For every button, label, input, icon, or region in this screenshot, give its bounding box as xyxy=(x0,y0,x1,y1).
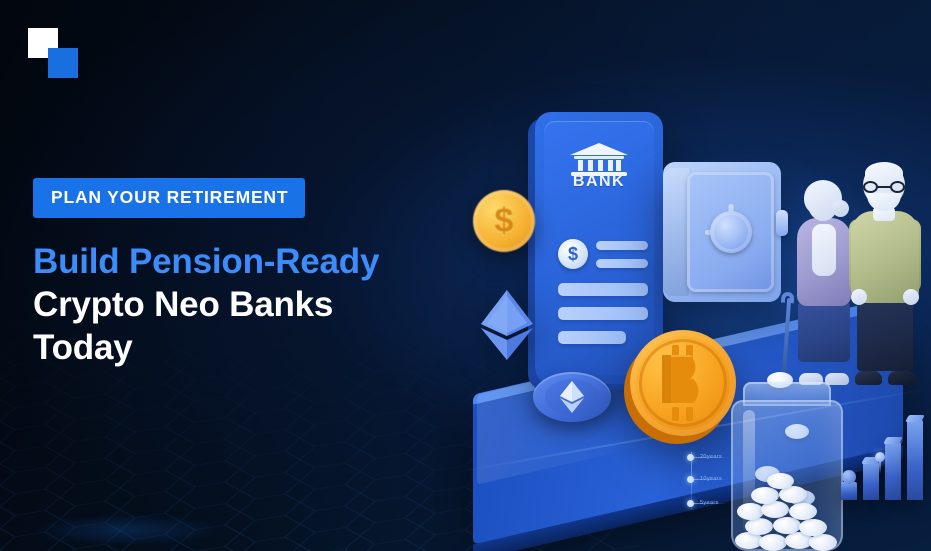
glasses-lens-left xyxy=(863,181,878,193)
vault-safe xyxy=(663,162,781,302)
bank-app-card: BANK $ xyxy=(535,112,663,384)
retirement-timeline: 20years 10years 5years xyxy=(687,452,757,514)
dollar-glyph: $ xyxy=(568,244,578,264)
bank-card-screen: BANK $ xyxy=(544,121,654,375)
woman-hair-bun xyxy=(832,200,849,217)
timeline-dot xyxy=(687,454,694,461)
jar-coin xyxy=(745,518,773,535)
chart-bar-cap xyxy=(905,415,925,422)
elderly-woman xyxy=(793,180,855,385)
bank-card-text-line xyxy=(596,241,648,250)
safe-combination-dial xyxy=(710,211,752,253)
eyeglasses-icon xyxy=(862,181,906,193)
bitcoin-glyph xyxy=(652,345,714,421)
jar-coin xyxy=(759,534,787,551)
eyebrow-badge: PLAN YOUR RETIREMENT xyxy=(33,178,305,218)
man-beard xyxy=(867,193,901,211)
elderly-couple xyxy=(793,163,919,385)
hero-copy: PLAN YOUR RETIREMENT Build Pension-Ready… xyxy=(33,178,463,369)
bank-card-text-line xyxy=(596,259,648,268)
timeline-label: 20years xyxy=(700,452,722,462)
glasses-lens-right xyxy=(890,181,905,193)
timeline-dot xyxy=(687,500,694,507)
ethereum-diamond-icon xyxy=(558,380,586,414)
ethereum-token-button xyxy=(533,372,611,422)
bank-card-label: BANK xyxy=(573,173,625,191)
page-title: Build Pension-Ready Crypto Neo Banks Tod… xyxy=(33,240,463,370)
man-shoe-right xyxy=(888,371,915,385)
bank-card-dollar-coin: $ xyxy=(558,239,588,269)
safe-door xyxy=(687,172,774,292)
hero-illustration: BANK $ xyxy=(455,0,931,551)
man-hand-right xyxy=(903,289,919,305)
man-shoe-left xyxy=(855,371,882,385)
headline-line-2: Crypto Neo Banks xyxy=(33,283,463,326)
woman-shirt xyxy=(812,224,836,276)
chart-bar-cap xyxy=(842,470,856,484)
headline-line-3: Today xyxy=(33,326,463,369)
jar-coin xyxy=(799,519,827,536)
bitcoin-coin xyxy=(630,330,736,436)
timeline-label: 5years xyxy=(700,498,719,508)
chart-bar xyxy=(885,442,901,500)
jar-coin xyxy=(789,503,817,520)
logo-square-blue xyxy=(48,48,78,78)
elderly-man xyxy=(851,163,919,385)
bank-card-text-line xyxy=(558,307,648,320)
bank-building-icon xyxy=(568,143,630,177)
chart-bar-cap xyxy=(883,437,903,444)
bank-card-text-line xyxy=(558,331,626,344)
bank-card-text-line xyxy=(558,283,648,296)
headline-line-1: Build Pension-Ready xyxy=(33,240,463,283)
jar-coin xyxy=(773,517,801,534)
background-corner-glow xyxy=(0,341,420,551)
dollar-glyph: $ xyxy=(473,190,535,252)
ethereum-diamond-icon xyxy=(475,288,539,362)
chart-bar xyxy=(907,420,923,500)
safe-handle xyxy=(776,210,788,236)
woman-skirt xyxy=(798,300,850,362)
jar-coin xyxy=(767,473,794,489)
chart-bar xyxy=(841,482,857,500)
brand-logo[interactable] xyxy=(28,28,84,80)
jar-coin xyxy=(809,534,837,551)
pin-stem xyxy=(879,460,881,474)
man-trousers xyxy=(857,297,913,371)
map-pin-marker xyxy=(875,452,885,474)
safe-side-face xyxy=(663,168,689,296)
timeline-label: 10years xyxy=(700,474,722,484)
glasses-bridge xyxy=(878,186,890,188)
timeline-dot xyxy=(687,476,694,483)
man-hand-left xyxy=(851,289,867,305)
gold-dollar-coin: $ xyxy=(473,190,535,252)
hero-banner: PLAN YOUR RETIREMENT Build Pension-Ready… xyxy=(0,0,931,551)
